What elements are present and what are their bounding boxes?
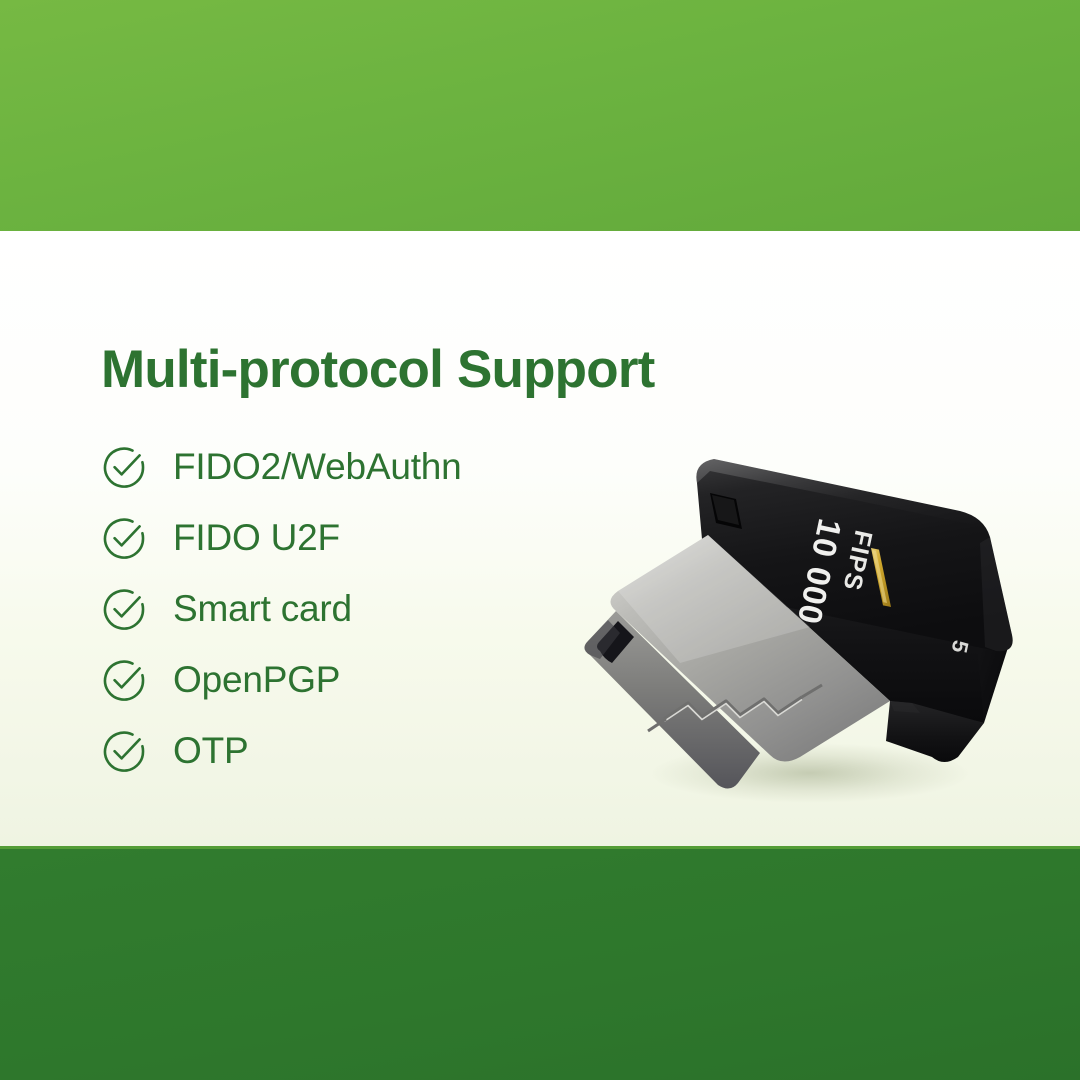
security-key-device: FIPS 10 000 001 5: [560, 401, 1040, 821]
check-circle-icon: [101, 444, 147, 490]
list-item: OpenPGP: [101, 644, 621, 715]
list-item-label: OTP: [173, 732, 248, 769]
content-area: Multi-protocol Support FIDO2/WebAuthn FI…: [0, 231, 1080, 846]
list-item: FIDO U2F: [101, 502, 621, 573]
list-item: FIDO2/WebAuthn: [101, 431, 621, 502]
check-circle-icon: [101, 515, 147, 561]
bottom-green-band: [0, 846, 1080, 1080]
feature-list: FIDO2/WebAuthn FIDO U2F Smart card: [101, 431, 621, 786]
top-green-band: [0, 0, 1080, 231]
list-item-label: FIDO U2F: [173, 519, 340, 556]
bottom-band-edge: [0, 846, 1080, 849]
list-item-label: Smart card: [173, 590, 352, 627]
security-key-illustration: FIPS 10 000 001 5: [560, 401, 1040, 821]
page-title: Multi-protocol Support: [101, 343, 655, 396]
check-circle-icon: [101, 728, 147, 774]
check-circle-icon: [101, 657, 147, 703]
list-item-label: FIDO2/WebAuthn: [173, 448, 462, 485]
list-item-label: OpenPGP: [173, 661, 340, 698]
list-item: OTP: [101, 715, 621, 786]
poster-canvas: Multi-protocol Support FIDO2/WebAuthn FI…: [0, 0, 1080, 1080]
check-circle-icon: [101, 586, 147, 632]
list-item: Smart card: [101, 573, 621, 644]
